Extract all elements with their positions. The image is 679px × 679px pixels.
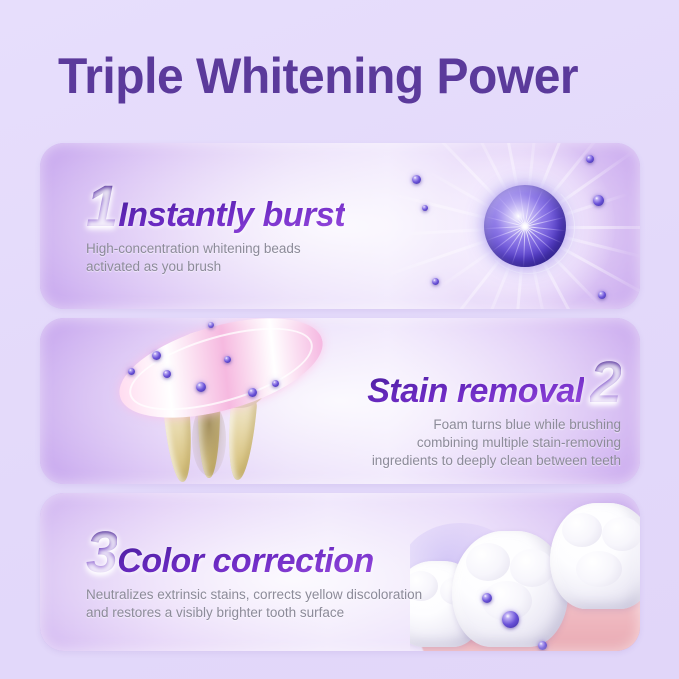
whitening-bead-sphere [484,185,566,267]
panel-2-text-block: Stain removal 2 Foam turns blue while br… [367,358,621,470]
panel-3-step-number: 3 [86,528,117,578]
molar-tooth [550,503,640,609]
stained-tooth-illustration [100,318,360,484]
panel-1-step-number: 1 [86,182,117,232]
panel-3-headline: Color correction [117,542,373,580]
white-teeth-illustration [410,493,640,651]
panel-1-body-text: High-concentration whitening beads activ… [86,240,345,276]
bursting-bead-sphere-illustration [370,143,640,309]
panel-2-headline: Stain removal [367,372,583,410]
panel-1-headline: Instantly burst [118,196,345,234]
panel-2-body-text: Foam turns blue while brushing combining… [367,416,621,470]
panel-3-body-text: Neutralizes extrinsic stains, corrects y… [86,586,422,622]
panel-3-text-block: 3 Color correction Neutralizes extrinsic… [86,528,422,622]
panel-1-text-block: 1 Instantly burst High-concentration whi… [86,182,345,276]
panel-2-step-number: 2 [590,358,621,408]
infographic-page: Triple Whitening Power [0,0,679,679]
page-title: Triple Whitening Power [58,48,578,104]
